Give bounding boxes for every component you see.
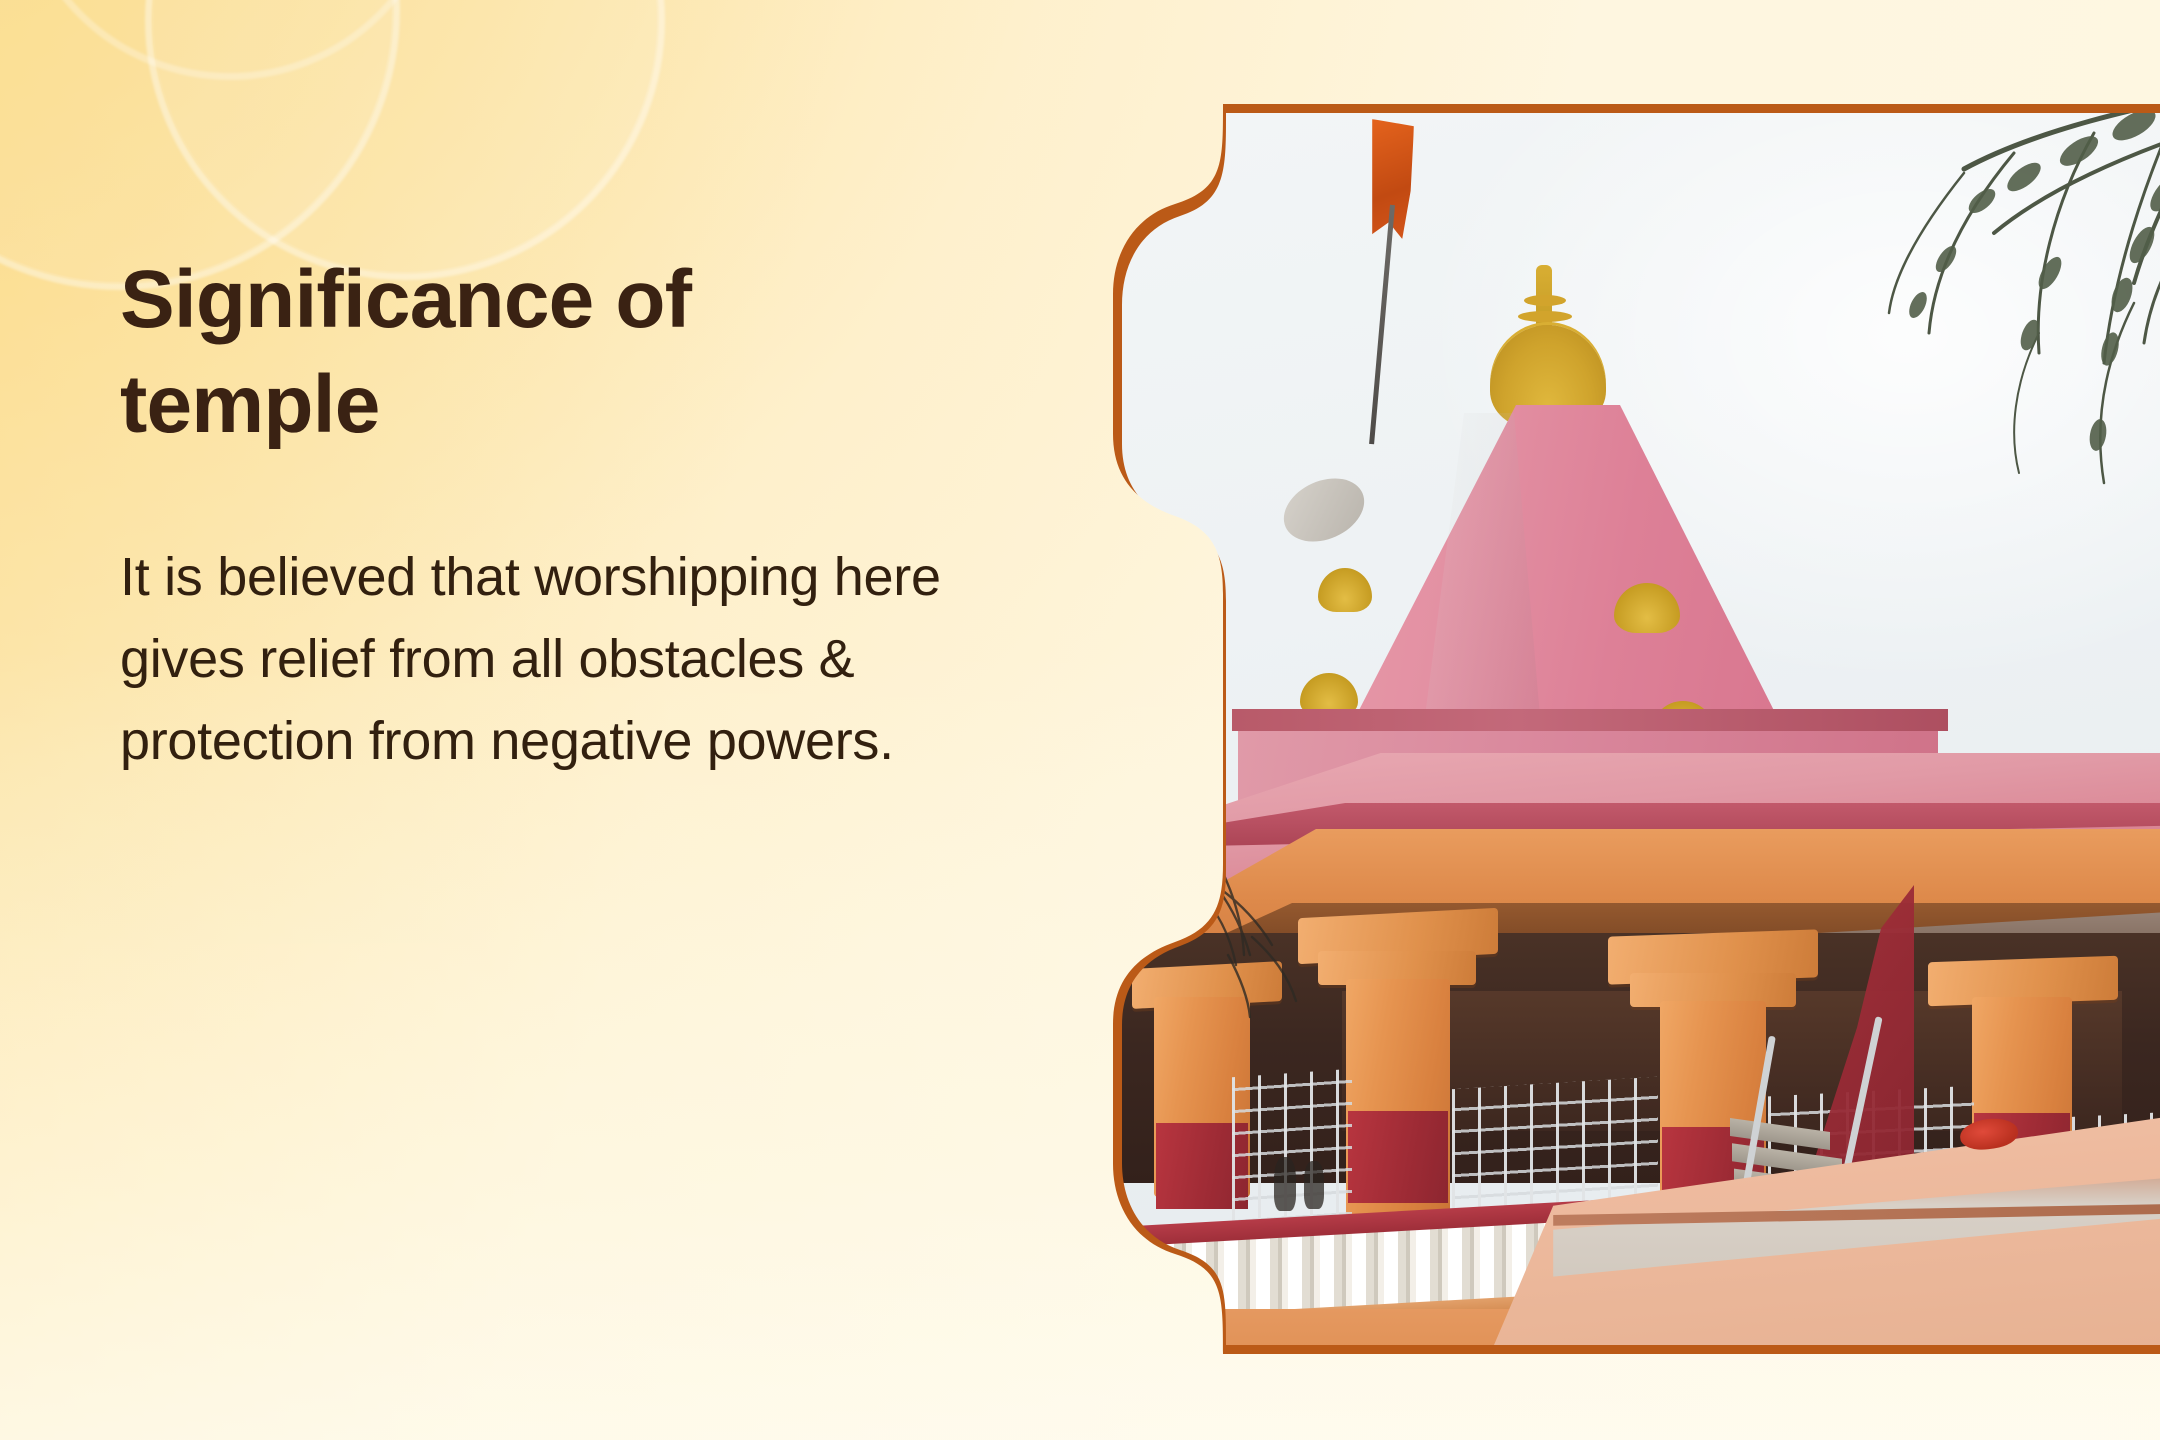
- shikhara-drum-band: [1232, 709, 1948, 731]
- temple-photo-frame: [1113, 104, 2160, 1354]
- person-silhouette: [1304, 1161, 1324, 1209]
- branch-twigs-icon: [1132, 805, 1472, 1045]
- pillar-red-band: [1348, 1111, 1448, 1203]
- body-paragraph: It is believed that worshipping here giv…: [120, 536, 950, 782]
- temple-photo-image: [1122, 113, 2160, 1345]
- finial-ring-lower: [1518, 311, 1572, 322]
- page-title: Significance of temple: [120, 248, 820, 458]
- text-column: Significance of temple It is believed th…: [120, 248, 960, 782]
- slide-canvas: Significance of temple It is believed th…: [0, 0, 2160, 1440]
- finial-ring-upper: [1524, 295, 1566, 306]
- person-silhouette: [1274, 1157, 1296, 1211]
